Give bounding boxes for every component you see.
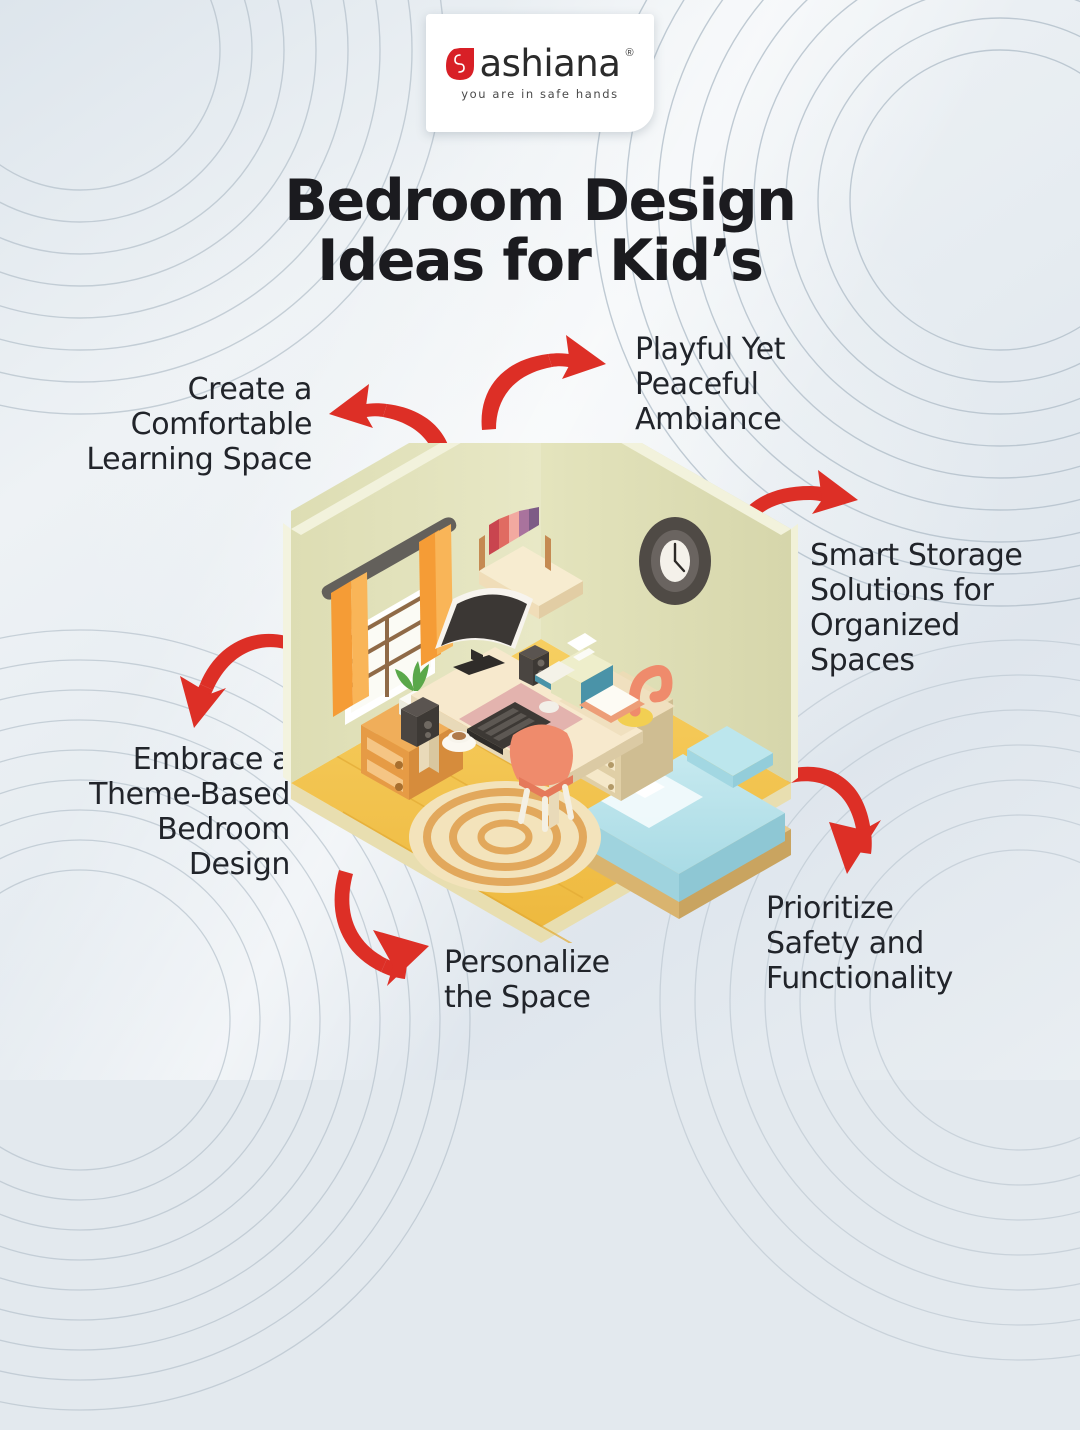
logo-wordmark-row: ashiana ® (446, 45, 633, 82)
mouse (539, 701, 559, 713)
ashiana-house-icon (446, 48, 474, 80)
registered-trademark-icon: ® (625, 47, 633, 59)
callout-create-a-comfortable-learning-space: Create a Comfortable Learning Space (86, 372, 312, 477)
callout-personalize-the-space: Personalize the Space (444, 945, 610, 1015)
callout-embrace-a-theme-based-bedroom-design: Embrace a Theme-Based Bedroom Design (89, 742, 290, 882)
wall-clock (639, 517, 711, 605)
round-rug (409, 781, 601, 893)
page-title: Bedroom Design Ideas for Kid’s (0, 172, 1080, 292)
title-line-2: Ideas for Kid’s (0, 232, 1080, 292)
brand-logo-card[interactable]: ashiana ® you are in safe hands (426, 14, 654, 132)
title-line-1: Bedroom Design (284, 168, 795, 234)
isometric-kids-bedroom-illustration (283, 443, 798, 948)
callout-playful-yet-peaceful-ambiance: Playful Yet Peaceful Ambiance (635, 332, 785, 437)
callout-smart-storage-solutions: Smart Storage Solutions for Organized Sp… (810, 538, 1022, 678)
brand-tagline: you are in safe hands (461, 87, 619, 101)
brand-name: ashiana (479, 45, 620, 82)
